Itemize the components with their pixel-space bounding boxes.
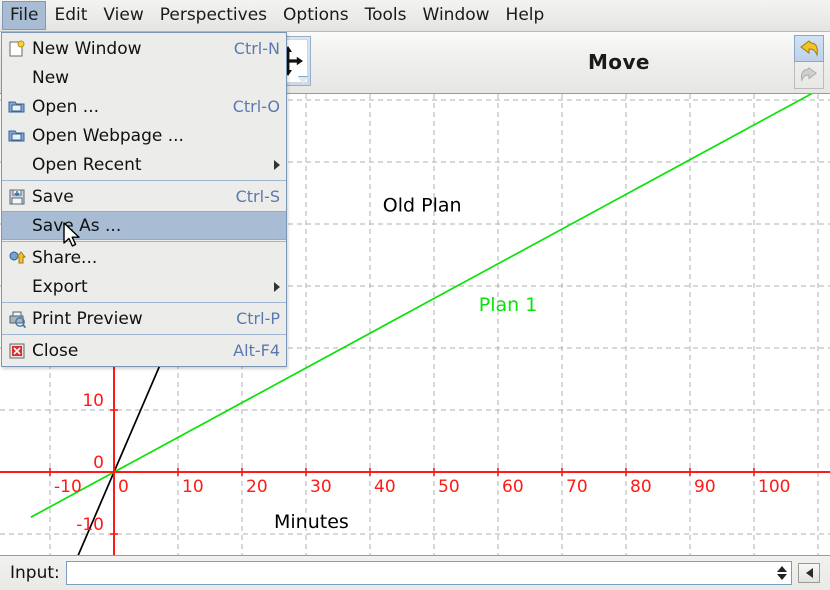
file-menu-item-label: Open Webpage ... [32, 126, 280, 146]
file-menu-item-shortcut: Ctrl-N [234, 39, 280, 58]
file-menu-item-shortcut: Ctrl-P [236, 309, 280, 328]
file-menu-item-label: Export [32, 277, 264, 297]
input-help-button[interactable] [798, 563, 820, 583]
input-label: Input: [4, 563, 66, 583]
x-tick-label: 50 [438, 477, 460, 497]
no-icon [6, 155, 28, 175]
file-menu-item-shortcut: Ctrl-O [233, 97, 280, 116]
file-menu-item-label: Close [32, 341, 219, 361]
file-menu-item-label: Open ... [32, 97, 219, 117]
x-tick-label: 80 [630, 477, 652, 497]
share-icon [6, 248, 28, 268]
close-red-icon [8, 342, 26, 360]
file-menu-dropdown: New WindowCtrl-NNewOpen ...Ctrl-OOpen We… [1, 32, 287, 367]
file-menu-item-new[interactable]: New [2, 63, 286, 92]
file-menu-item-open[interactable]: Open ...Ctrl-O [2, 92, 286, 121]
menu-separator [2, 302, 286, 303]
save-disk-icon [6, 187, 28, 207]
x-tick-label: 30 [310, 477, 332, 497]
y-tick-label: 0 [93, 453, 104, 473]
file-menu-item-label: New [32, 68, 280, 88]
input-field[interactable] [66, 561, 792, 585]
printer-icon [8, 310, 26, 328]
x-tick-label: 10 [182, 477, 204, 497]
menu-file[interactable]: File [2, 1, 46, 30]
file-menu-item-close[interactable]: CloseAlt-F4 [2, 336, 286, 365]
y-tick-label: 10 [82, 391, 104, 411]
menu-separator [2, 241, 286, 242]
submenu-arrow-icon [274, 282, 280, 292]
y-tick-label: -10 [76, 515, 104, 535]
open-folder-icon [8, 127, 26, 145]
file-menu-item-label: Save [32, 187, 222, 207]
x-tick-label: 70 [566, 477, 588, 497]
menu-help[interactable]: Help [498, 1, 553, 30]
file-menu-item-label: Print Preview [32, 309, 222, 329]
plot-label[interactable]: Plan 1 [479, 294, 538, 316]
undo-arrow-icon [798, 39, 820, 59]
save-disk-icon [8, 188, 26, 206]
printer-icon [6, 309, 28, 329]
open-folder-icon [6, 126, 28, 146]
x-tick-label: 40 [374, 477, 396, 497]
no-icon [6, 216, 28, 236]
submenu-arrow-icon [274, 160, 280, 170]
file-menu-item-share[interactable]: Share... [2, 243, 286, 272]
file-menu-item-save[interactable]: SaveCtrl-S [2, 182, 286, 211]
file-menu-item-shortcut: Alt-F4 [233, 341, 280, 360]
menu-window[interactable]: Window [415, 1, 498, 30]
file-menu-item-label: Share... [32, 248, 280, 268]
undo-redo-group [794, 35, 824, 89]
file-menu-item-shortcut: Ctrl-S [236, 187, 280, 206]
menu-edit[interactable]: Edit [46, 1, 95, 30]
x-tick-label: 60 [502, 477, 524, 497]
menu-separator [2, 334, 286, 335]
no-icon [6, 68, 28, 88]
geogebra-window: File Edit View Perspectives Options Tool… [0, 0, 830, 590]
active-tool-label: Move [588, 50, 650, 74]
input-field-wrap [66, 561, 792, 585]
up-down-spinner-icon[interactable] [775, 563, 789, 583]
redo-button[interactable] [794, 62, 824, 89]
x-tick-label: 20 [246, 477, 268, 497]
redo-arrow-icon [798, 66, 820, 84]
file-menu-item-label: Open Recent [32, 155, 264, 175]
x-tick-label: 100 [758, 477, 790, 497]
close-red-icon [6, 341, 28, 361]
file-menu-item-new-window[interactable]: New WindowCtrl-N [2, 34, 286, 63]
menu-options[interactable]: Options [275, 1, 357, 30]
x-tick-label: 0 [118, 477, 129, 497]
file-menu-item-label: Save As ... [32, 216, 280, 236]
file-menu-item-open-webpage[interactable]: Open Webpage ... [2, 121, 286, 150]
plot-label[interactable]: Minutes [274, 511, 349, 533]
menu-view[interactable]: View [95, 1, 151, 30]
chevron-down-icon[interactable] [298, 77, 308, 84]
x-tick-label: -10 [54, 477, 82, 497]
undo-button[interactable] [794, 35, 824, 62]
menu-separator [2, 180, 286, 181]
share-icon [8, 249, 26, 267]
no-icon [6, 277, 28, 297]
open-folder-icon [6, 97, 28, 117]
file-menu-item-print-preview[interactable]: Print PreviewCtrl-P [2, 304, 286, 333]
new-window-icon [8, 40, 26, 58]
file-menu-item-open-recent[interactable]: Open Recent [2, 150, 286, 179]
menu-perspectives[interactable]: Perspectives [152, 1, 275, 30]
file-menu-item-save-as[interactable]: Save As ... [2, 211, 286, 240]
open-folder-icon [8, 98, 26, 116]
new-window-icon [6, 39, 28, 59]
x-tick-label: 90 [694, 477, 716, 497]
plot-label[interactable]: Old Plan [383, 195, 462, 217]
input-bar: Input: [0, 555, 830, 590]
collapse-left-icon [806, 568, 813, 578]
file-menu-item-export[interactable]: Export [2, 272, 286, 301]
file-menu-item-label: New Window [32, 39, 220, 59]
menu-bar: File Edit View Perspectives Options Tool… [0, 0, 830, 32]
menu-tools[interactable]: Tools [357, 1, 415, 30]
